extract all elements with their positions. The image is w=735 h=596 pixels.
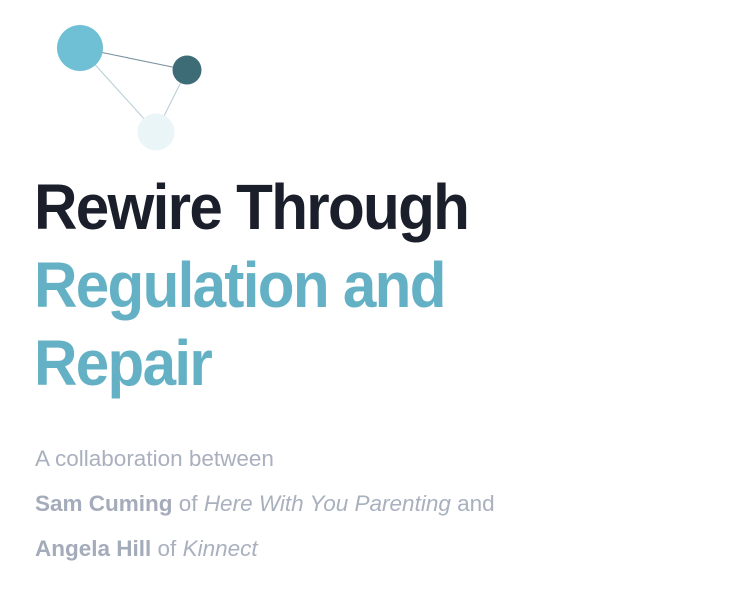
credit-line-2: Angela Hill of Kinnect (35, 526, 715, 571)
credit-suffix-1: and (451, 491, 495, 516)
subtitle-block: A collaboration between Sam Cuming of He… (35, 436, 715, 571)
credit-name-1: Sam Cuming (35, 491, 173, 516)
page-title: Rewire Through Regulation and Repair (34, 168, 694, 402)
credit-connector-1: of (173, 491, 204, 516)
logo-network-mark (24, 8, 224, 160)
headline-line-3: Repair (34, 324, 654, 402)
headline-line-2: Regulation and (34, 246, 654, 324)
credit-line-1: Sam Cuming of Here With You Parenting an… (35, 481, 715, 526)
headline-line-1: Rewire Through (34, 168, 654, 246)
credit-org-1: Here With You Parenting (204, 491, 451, 516)
credit-connector-2: of (151, 536, 182, 561)
credit-org-2: Kinnect (183, 536, 258, 561)
title-slide: Rewire Through Regulation and Repair A c… (0, 0, 735, 596)
dark-slate-node-icon (173, 56, 202, 85)
credit-name-2: Angela Hill (35, 536, 151, 561)
large-teal-node-icon (57, 25, 103, 71)
collaboration-intro: A collaboration between (35, 436, 715, 481)
pale-ice-node-icon (138, 114, 175, 151)
